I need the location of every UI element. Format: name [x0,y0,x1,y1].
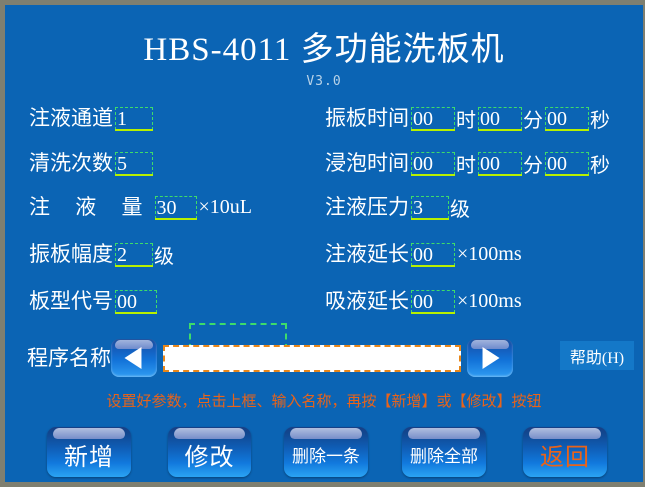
field-unit: 秒 [590,104,610,133]
soak-time-hours-input[interactable]: 00 [411,152,455,175]
field-label: 板型代号 [29,291,113,312]
hint-text: 设置好参数，点击上框、输入名称，再按【新增】或【修改】按钮 [5,390,643,411]
delete-one-button[interactable]: 删除一条 [284,427,368,477]
page-title: HBS-4011 多功能洗板机 [5,22,643,70]
field-label: 吸液延长 [325,291,409,312]
field-unit: ×100ms [456,290,522,313]
plate-code-input[interactable]: 00 [115,290,157,313]
inject-pressure-input[interactable]: 3 [411,196,449,219]
field-row-inject-volume: 注 液 量 30 ×10uL [29,194,252,220]
add-button[interactable]: 新增 [47,427,131,477]
next-program-button[interactable] [467,339,513,377]
program-name-input[interactable] [163,345,461,372]
program-name-label: 程序名称 [27,348,111,369]
program-name-row: 程序名称 [27,338,513,378]
field-unit: 时 [456,149,476,178]
button-label: 删除全部 [402,427,486,477]
field-row-inject-channel: 注液通道 1 [29,105,154,131]
button-label: 删除一条 [284,427,368,477]
field-unit: 秒 [590,149,610,178]
field-row-inject-pressure: 注液压力 3 级 [325,194,470,220]
field-unit: 级 [450,193,470,222]
shake-time-hours-input[interactable]: 00 [411,107,455,130]
shake-amplitude-input[interactable]: 2 [115,243,153,266]
field-row-inject-delay: 注液延长 00 ×100ms [325,241,522,267]
right-arrow-icon [483,347,500,369]
version-label: V3.0 [5,74,643,89]
field-label: 清洗次数 [29,153,113,174]
field-label: 注 液 量 [29,197,153,218]
inject-channel-input[interactable]: 1 [115,107,153,130]
button-label: 修改 [168,427,251,477]
modify-button[interactable]: 修改 [168,427,251,477]
field-row-shake-time: 振板时间 00 时 00 分 00 秒 [325,105,610,131]
shake-time-seconds-input[interactable]: 00 [545,107,589,130]
field-unit: 分 [523,104,543,133]
field-unit: 分 [523,149,543,178]
delete-all-button[interactable]: 删除全部 [402,427,486,477]
button-label: 返回 [523,427,607,477]
field-unit: ×10uL [198,196,253,219]
field-unit: ×100ms [456,243,522,266]
field-label: 振板幅度 [29,244,113,265]
field-row-shake-amplitude: 振板幅度 2 级 [29,241,174,267]
field-unit: 时 [456,104,476,133]
wash-count-input[interactable]: 5 [115,152,153,175]
shake-time-minutes-input[interactable]: 00 [478,107,522,130]
help-button[interactable]: 帮助(H) [560,341,634,370]
field-label: 浸泡时间 [325,153,409,174]
previous-program-button[interactable] [111,339,157,377]
aspirate-delay-input[interactable]: 00 [411,290,455,313]
field-label: 注液压力 [325,197,409,218]
field-label: 振板时间 [325,108,409,129]
left-arrow-icon [124,347,141,369]
field-label: 注液延长 [325,244,409,265]
washer-control-panel: HBS-4011 多功能洗板机 V3.0 注液通道 1 清洗次数 5 注 液 量… [5,5,643,482]
field-unit: 级 [154,240,174,269]
return-button[interactable]: 返回 [523,427,607,477]
soak-time-minutes-input[interactable]: 00 [478,152,522,175]
field-row-aspirate-delay: 吸液延长 00 ×100ms [325,288,522,314]
field-row-plate-code: 板型代号 00 [29,288,158,314]
button-label: 新增 [47,427,131,477]
inject-delay-input[interactable]: 00 [411,243,455,266]
soak-time-seconds-input[interactable]: 00 [545,152,589,175]
field-row-soak-time: 浸泡时间 00 时 00 分 00 秒 [325,150,610,176]
inject-volume-input[interactable]: 30 [155,196,197,219]
field-label: 注液通道 [29,108,113,129]
field-row-wash-count: 清洗次数 5 [29,150,154,176]
